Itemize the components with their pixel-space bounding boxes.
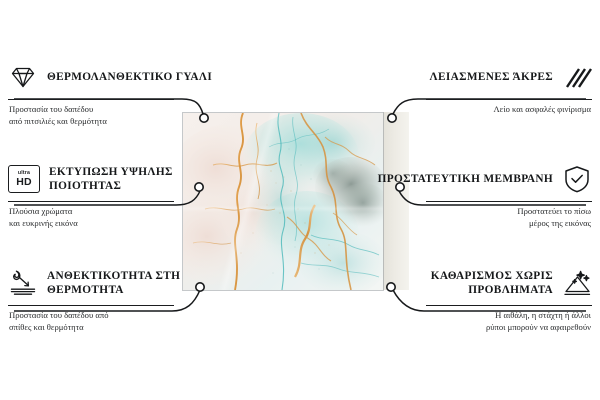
feature-title-line1: ΕΚΤΥΠΩΣΗ ΥΨΗΛΗΣ — [49, 166, 173, 178]
feature-description: Λείο και ασφαλές φινίρισμα — [342, 104, 592, 116]
feature-title-line2: ΆΚΡΕΣ — [512, 71, 553, 83]
feature-header: ΚΑΘΑΡΙΣΜΟΣ ΧΩΡΙΣ ΠΡΟΒΛΗΜΑΤΑ — [342, 264, 592, 302]
feature-divider — [426, 305, 592, 306]
feature-title: ΘΕΡΜΟΛΑΝΘΕΚΤΙΚΟ ΓΥΑΛΙ — [47, 70, 212, 85]
feature-divider — [8, 201, 174, 202]
feature-header: ΛΕΙΑΣΜΕΝΕΣ ΆΚΡΕΣ — [342, 58, 592, 96]
diamond-icon — [8, 62, 38, 92]
sparkle-clean-icon — [562, 268, 592, 298]
feature-description: Η αιθάλη, η στάχτη ή άλλοι ρύποι μπορούν… — [342, 310, 592, 333]
feature-heat-durability: ΑΝΘΕΚΤΙΚΟΤΗΤΑ ΣΤΗ ΘΕΡΜΟΤΗΤΑ Προστασία το… — [8, 264, 258, 333]
infographic-stage: ΘΕΡΜΟΛΑΝΘΕΚΤΙΚΟ ΓΥΑΛΙ Προστασία του δαπέ… — [0, 0, 600, 400]
feature-title-line1: ΑΝΘΕΚΤΙΚΟΤΗΤΑ — [47, 270, 152, 282]
ultra-hd-large-label: HD — [16, 177, 32, 188]
feature-title: ΚΑΘΑΡΙΣΜΟΣ ΧΩΡΙΣ ΠΡΟΒΛΗΜΑΤΑ — [363, 269, 553, 298]
feature-desc-line2: ρύποι μπορούν να αφαιρεθούν — [342, 322, 591, 334]
feature-description: Προστατεύει το πίσω μέρος της εικόνας — [342, 206, 592, 229]
feature-protective-membrane: ΠΡΟΣΤΑΤΕΥΤΙΚΗ ΜΕΜΒΡΑΝΗ Προστατεύει το πί… — [342, 160, 592, 229]
ultra-hd-icon: ultra HD — [8, 165, 40, 193]
feature-title: ΑΝΘΕΚΤΙΚΟΤΗΤΑ ΣΤΗ ΘΕΡΜΟΤΗΤΑ — [47, 269, 237, 298]
feature-desc-line2: από πιτσιλιές και θερμότητα — [9, 116, 258, 128]
feature-description: Προστασία του δαπέδου από σπίθες και θερ… — [8, 310, 258, 333]
feature-desc-line1: Λείο και ασφαλές φινίρισμα — [342, 104, 591, 116]
feature-desc-line2: μέρος της εικόνας — [342, 218, 591, 230]
feature-title-line2: ΠΡΟΒΛΗΜΑΤΑ — [468, 284, 553, 296]
feature-title-line2: ΜΕΜΒΡΑΝΗ — [483, 173, 553, 185]
feature-title-line2: ΠΟΙΟΤΗΤΑΣ — [49, 180, 121, 192]
polished-edges-icon — [562, 62, 592, 92]
feature-title-line2: ΓΥΑΛΙ — [176, 71, 212, 83]
feature-desc-line1: Προστατεύει το πίσω — [342, 206, 591, 218]
feature-description: Προστασία του δαπέδου από πιτσιλιές και … — [8, 104, 258, 127]
shield-check-icon — [562, 164, 592, 194]
flame-deflect-icon — [8, 268, 38, 298]
feature-easy-cleaning: ΚΑΘΑΡΙΣΜΟΣ ΧΩΡΙΣ ΠΡΟΒΛΗΜΑΤΑ Η αιθάλη, η … — [342, 264, 592, 333]
feature-desc-line2: σπίθες και θερμότητα — [9, 322, 258, 334]
feature-desc-line1: Πλούσια χρώματα — [9, 206, 258, 218]
feature-heat-resistant-glass: ΘΕΡΜΟΛΑΝΘΕΚΤΙΚΟ ΓΥΑΛΙ Προστασία του δαπέ… — [8, 58, 258, 127]
feature-title-line1: ΛΕΙΑΣΜΕΝΕΣ — [430, 71, 510, 83]
feature-header: ΠΡΟΣΤΑΤΕΥΤΙΚΗ ΜΕΜΒΡΑΝΗ — [342, 160, 592, 198]
feature-header: ΘΕΡΜΟΛΑΝΘΕΚΤΙΚΟ ΓΥΑΛΙ — [8, 58, 258, 96]
feature-desc-line1: Προστασία του δαπέδου από — [9, 310, 258, 322]
feature-desc-line2: και ευκρινής εικόνα — [9, 218, 258, 230]
feature-desc-line1: Προστασία του δαπέδου — [9, 104, 258, 116]
feature-divider — [8, 305, 174, 306]
feature-polished-edges: ΛΕΙΑΣΜΕΝΕΣ ΆΚΡΕΣ Λείο και ασφαλές φινίρι… — [342, 58, 592, 116]
feature-title-line1: ΘΕΡΜΟΛΑΝΘΕΚΤΙΚΟ — [47, 71, 173, 83]
feature-title: ΕΚΤΥΠΩΣΗ ΥΨΗΛΗΣ ΠΟΙΟΤΗΤΑΣ — [49, 165, 239, 194]
feature-divider — [426, 201, 592, 202]
feature-divider — [8, 99, 174, 100]
feature-title: ΛΕΙΑΣΜΕΝΕΣ ΆΚΡΕΣ — [430, 70, 553, 85]
feature-title: ΠΡΟΣΤΑΤΕΥΤΙΚΗ ΜΕΜΒΡΑΝΗ — [378, 172, 553, 187]
feature-header: ultra HD ΕΚΤΥΠΩΣΗ ΥΨΗΛΗΣ ΠΟΙΟΤΗΤΑΣ — [8, 160, 258, 198]
feature-title-line1: ΠΡΟΣΤΑΤΕΥΤΙΚΗ — [378, 173, 481, 185]
feature-header: ΑΝΘΕΚΤΙΚΟΤΗΤΑ ΣΤΗ ΘΕΡΜΟΤΗΤΑ — [8, 264, 258, 302]
feature-description: Πλούσια χρώματα και ευκρινής εικόνα — [8, 206, 258, 229]
feature-desc-line1: Η αιθάλη, η στάχτη ή άλλοι — [342, 310, 591, 322]
feature-title-line1: ΚΑΘΑΡΙΣΜΟΣ ΧΩΡΙΣ — [431, 270, 553, 282]
feature-high-quality-print: ultra HD ΕΚΤΥΠΩΣΗ ΥΨΗΛΗΣ ΠΟΙΟΤΗΤΑΣ Πλούσ… — [8, 160, 258, 229]
feature-divider — [426, 99, 592, 100]
